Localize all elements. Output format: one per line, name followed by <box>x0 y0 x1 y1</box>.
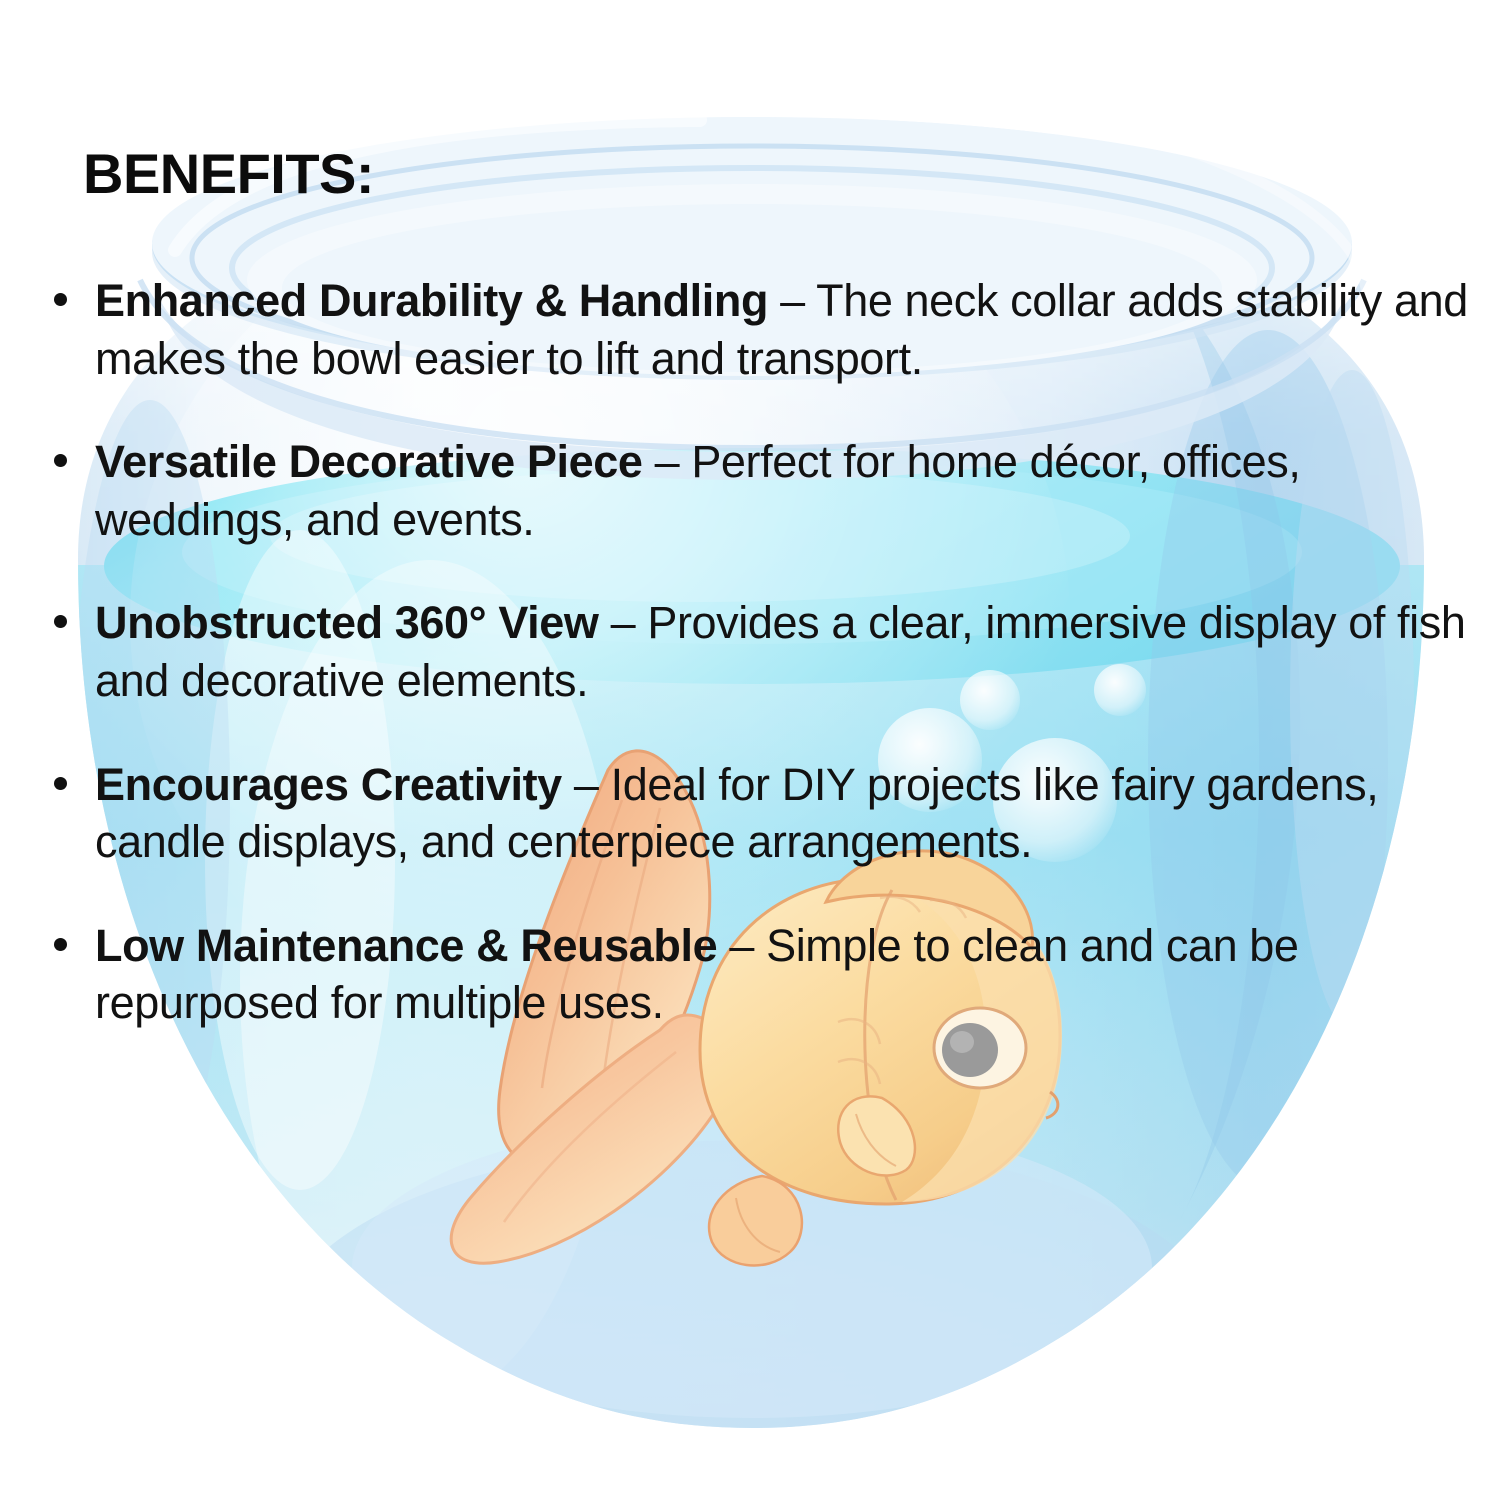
bullet-point-icon <box>54 615 67 628</box>
benefit-item-creativity: Encourages Creativity – Ideal for DIY pr… <box>40 756 1500 871</box>
benefit-dash: – <box>768 275 816 326</box>
benefit-title: Versatile Decorative Piece <box>95 436 642 487</box>
benefit-dash: – <box>599 597 648 648</box>
bullet-point-icon <box>54 293 67 306</box>
benefits-list: Enhanced Durability & Handling – The nec… <box>40 272 1500 1032</box>
benefit-item-view: Unobstructed 360° View – Provides a clea… <box>40 594 1500 709</box>
benefit-title: Unobstructed 360° View <box>95 597 599 648</box>
benefit-title: Encourages Creativity <box>95 759 562 810</box>
page-title: BENEFITS: <box>83 146 374 202</box>
benefit-item-durability: Enhanced Durability & Handling – The nec… <box>40 272 1500 387</box>
benefit-item-decorative: Versatile Decorative Piece – Perfect for… <box>40 433 1500 548</box>
bullet-point-icon <box>54 777 67 790</box>
bullet-point-icon <box>54 454 67 467</box>
text-content-layer: BENEFITS: Enhanced Durability & Handling… <box>0 0 1500 1500</box>
product-benefits-infographic: BENEFITS: Enhanced Durability & Handling… <box>0 0 1500 1500</box>
benefit-item-maintenance: Low Maintenance & Reusable – Simple to c… <box>40 917 1500 1032</box>
benefit-dash: – <box>642 436 691 487</box>
benefit-dash: – <box>562 759 611 810</box>
benefit-title: Enhanced Durability & Handling <box>95 275 768 326</box>
bullet-point-icon <box>54 938 67 951</box>
benefit-dash: – <box>717 920 766 971</box>
benefit-title: Low Maintenance & Reusable <box>95 920 717 971</box>
